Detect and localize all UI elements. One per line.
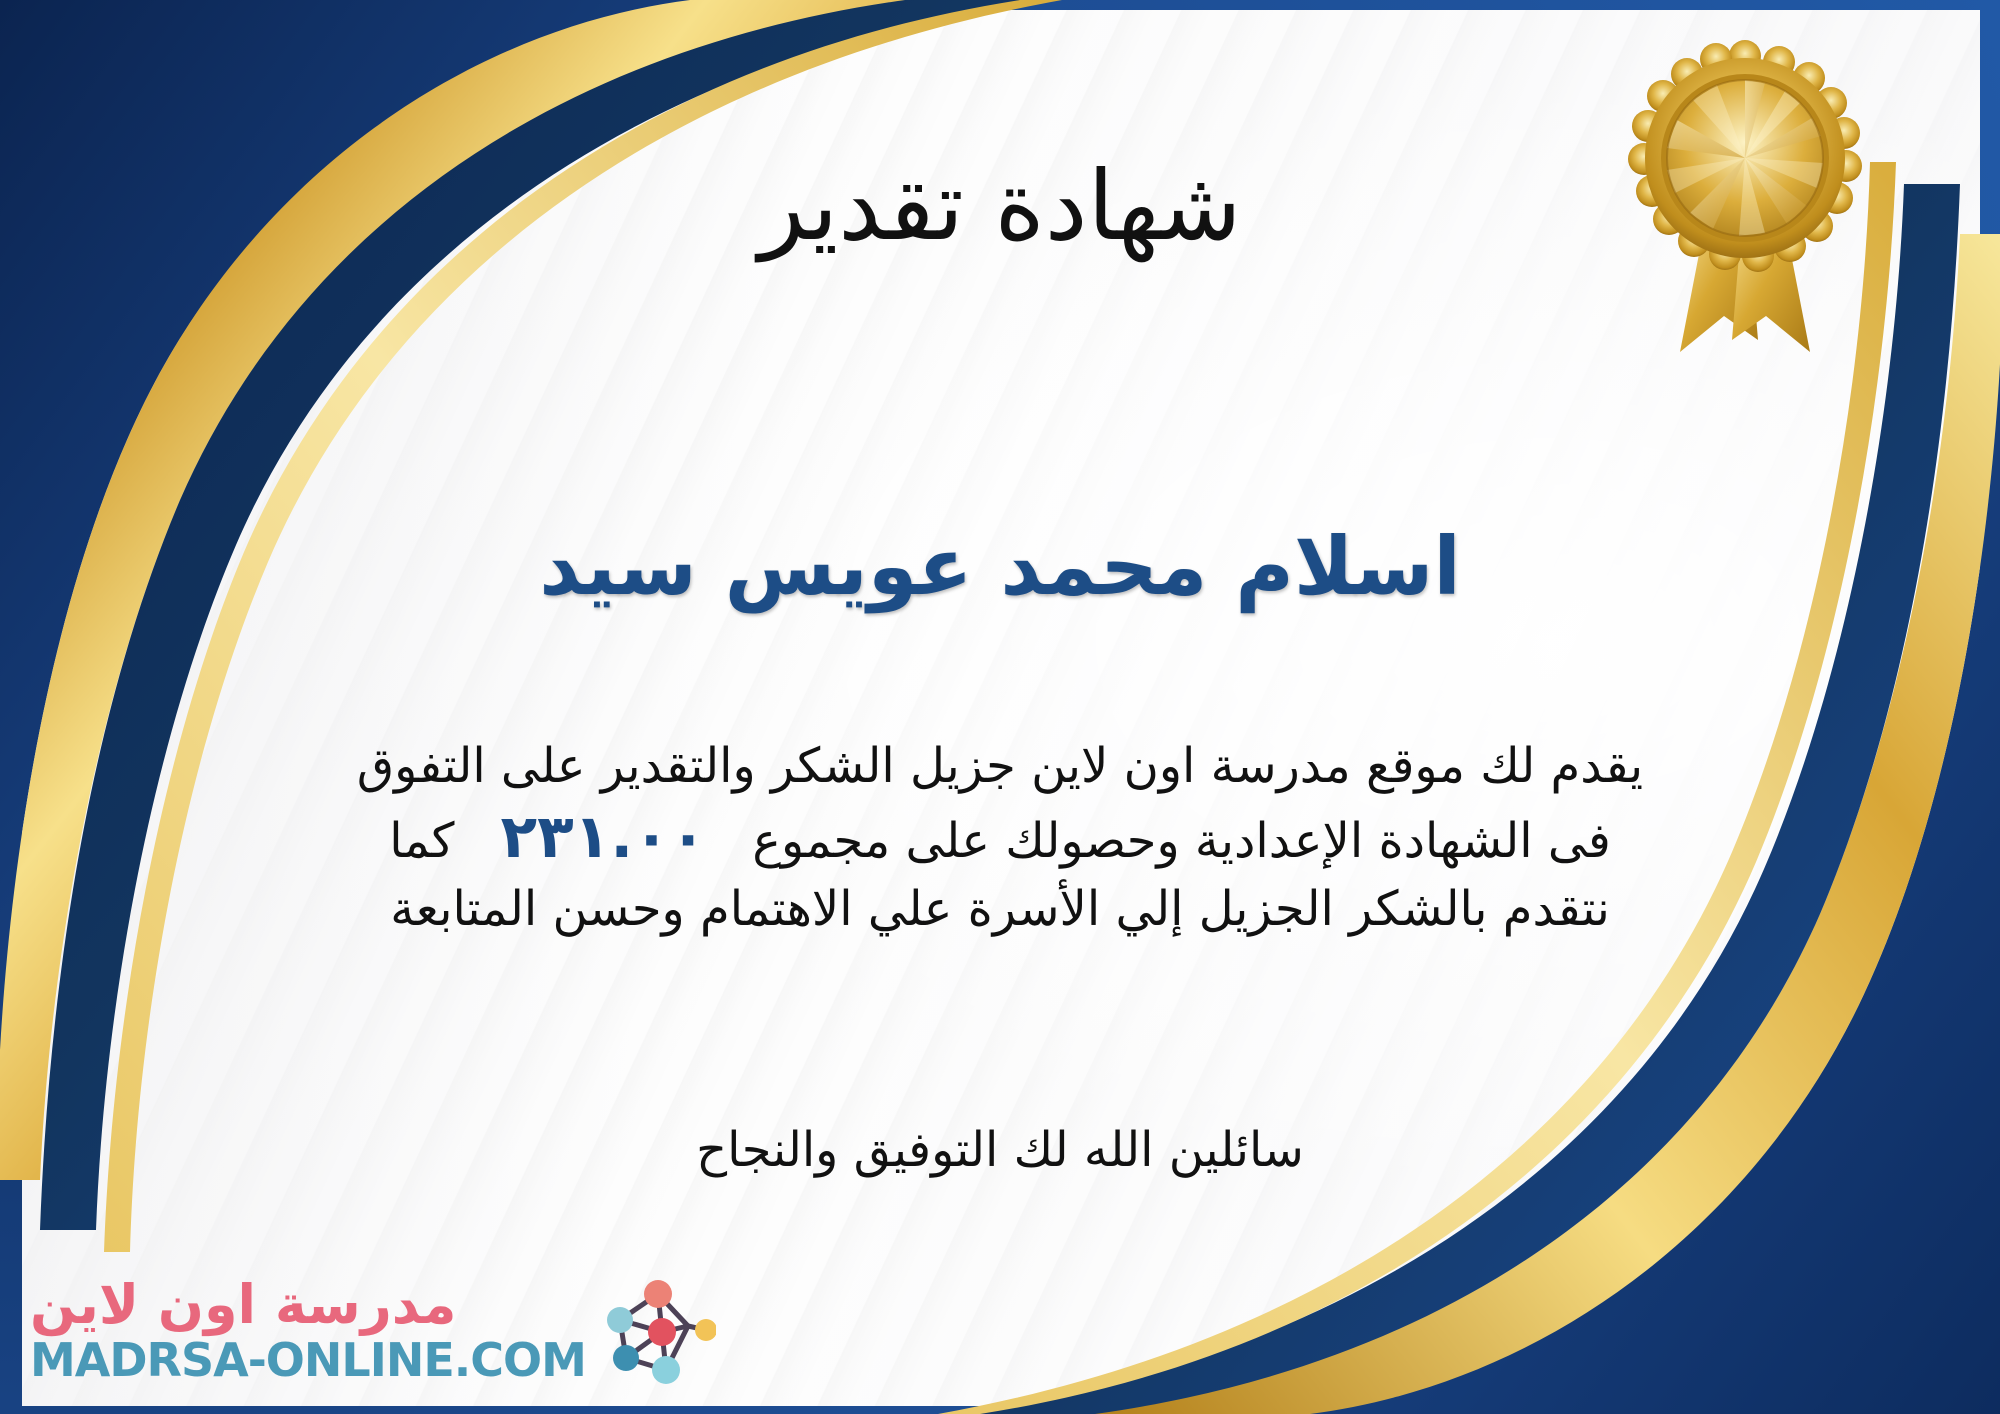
certificate-canvas: شهادة تقدير اسلام محمد عويس سيد يقدم لك …	[0, 0, 2000, 1414]
node-red	[648, 1318, 676, 1346]
brand-wordmark: مدرسة اون لاين MADRSA-ONLINE.COM	[30, 1277, 586, 1388]
closing-line: سائلين الله لك التوفيق والنجاح	[0, 1122, 2000, 1178]
body-line-2-left: كما	[389, 810, 454, 873]
brand-domain: MADRSA-ONLINE.COM	[30, 1333, 586, 1387]
node-coral	[644, 1280, 672, 1308]
body-line-1: يقدم لك موقع مدرسة اون لاين جزيل الشكر و…	[40, 735, 1960, 798]
certificate-body: يقدم لك موقع مدرسة اون لاين جزيل الشكر و…	[40, 735, 1960, 941]
body-line-2-right: فى الشهادة الإعدادية وحصولك على مجموع	[752, 810, 1610, 873]
brand-arabic-name: مدرسة اون لاين	[30, 1277, 586, 1334]
body-line-3: نتقدم بالشكر الجزيل إلي الأسرة علي الاهت…	[40, 878, 1960, 941]
node-cyan	[652, 1356, 680, 1384]
grade-total: ٢٣١.٠٠	[500, 798, 706, 877]
node-yellow	[695, 1319, 716, 1341]
body-line-2: فى الشهادة الإعدادية وحصولك على مجموع ٢٣…	[40, 798, 1960, 877]
brand-logo[interactable]: مدرسة اون لاين MADRSA-ONLINE.COM	[30, 1272, 716, 1392]
node-lightteal	[607, 1307, 633, 1333]
network-nodes-icon	[596, 1272, 716, 1392]
student-name: اسلام محمد عويس سيد	[0, 520, 2000, 613]
node-darkteal	[613, 1345, 639, 1371]
certificate-title: شهادة تقدير	[0, 150, 2000, 262]
